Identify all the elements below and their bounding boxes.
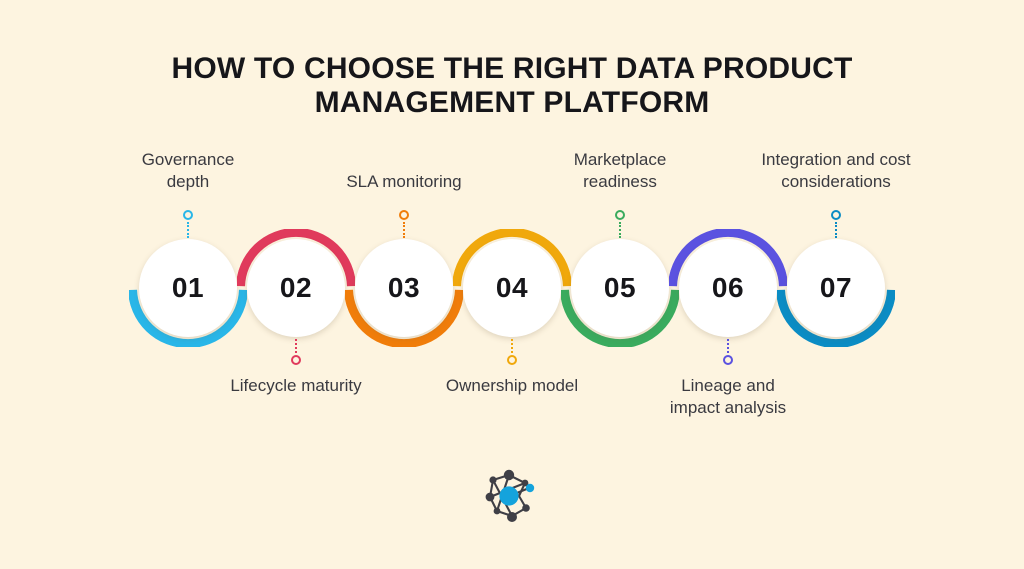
step-connector-03 (398, 210, 410, 238)
logo-accent-node (499, 486, 518, 505)
connector-ring-marker-icon (291, 355, 301, 365)
connector-dotted-line (187, 222, 191, 238)
step-disc-06: 06 (679, 239, 777, 337)
step-label-06: Lineage and impact analysis (623, 375, 833, 419)
step-label-07: Integration and cost considerations (731, 149, 941, 193)
step-07[interactable]: 07 (779, 231, 893, 345)
connector-dotted-line (403, 222, 407, 238)
step-label-04: Ownership model (407, 375, 617, 397)
connector-dotted-line (727, 339, 731, 353)
connector-ring-marker-icon (183, 210, 193, 220)
step-number-07: 07 (820, 272, 852, 304)
step-label-01: Governance depth (83, 149, 293, 193)
step-connector-04 (506, 339, 518, 365)
step-label-03: SLA monitoring (299, 171, 509, 193)
step-label-05: Marketplace readiness (515, 149, 725, 193)
step-connector-01 (182, 210, 194, 238)
step-disc-01: 01 (139, 239, 237, 337)
step-number-02: 02 (280, 272, 312, 304)
step-03[interactable]: 03 (347, 231, 461, 345)
connector-dotted-line (295, 339, 299, 353)
connector-ring-marker-icon (507, 355, 517, 365)
connector-dotted-line (835, 222, 839, 238)
step-connector-06 (722, 339, 734, 365)
step-number-06: 06 (712, 272, 744, 304)
connector-ring-marker-icon (615, 210, 625, 220)
connector-ring-marker-icon (723, 355, 733, 365)
step-disc-04: 04 (463, 239, 561, 337)
infographic-canvas: HOW TO CHOOSE THE RIGHT DATA PRODUCT MAN… (0, 0, 1024, 569)
network-nodes-logo (479, 467, 545, 525)
connector-ring-marker-icon (831, 210, 841, 220)
connector-dotted-line (511, 339, 515, 353)
step-number-04: 04 (496, 272, 528, 304)
step-01[interactable]: 01 (131, 231, 245, 345)
step-06[interactable]: 06 (671, 231, 785, 345)
step-disc-03: 03 (355, 239, 453, 337)
step-connector-07 (830, 210, 842, 238)
step-label-02: Lifecycle maturity (191, 375, 401, 397)
step-connector-02 (290, 339, 302, 365)
step-04[interactable]: 04 (455, 231, 569, 345)
step-disc-07: 07 (787, 239, 885, 337)
step-number-01: 01 (172, 272, 204, 304)
step-02[interactable]: 02 (239, 231, 353, 345)
step-number-03: 03 (388, 272, 420, 304)
step-number-05: 05 (604, 272, 636, 304)
step-disc-05: 05 (571, 239, 669, 337)
step-disc-02: 02 (247, 239, 345, 337)
connector-dotted-line (619, 222, 623, 238)
connector-ring-marker-icon (399, 210, 409, 220)
step-connector-05 (614, 210, 626, 238)
step-05[interactable]: 05 (563, 231, 677, 345)
